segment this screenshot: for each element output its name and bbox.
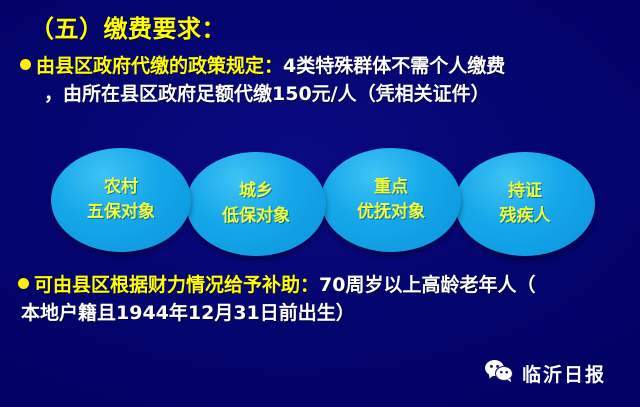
category-oval-4: 持证 残疾人	[455, 152, 595, 256]
bullet-1-line-1: 由县区政府代缴的政策规定：4类特殊群体不需个人缴费	[20, 53, 630, 81]
slide-canvas: （五）缴费要求： 由县区政府代缴的政策规定：4类特殊群体不需个人缴费 ，由所在县…	[0, 0, 640, 407]
bullet-block-1: 由县区政府代缴的政策规定：4类特殊群体不需个人缴费 ，由所在县区政府足额代缴15…	[20, 53, 630, 108]
bullet-1-line-2: ，由所在县区政府足额代缴150元/人（凭相关证件）	[20, 81, 630, 109]
category-oval-1-line-2: 五保对象	[87, 200, 155, 226]
bullet-2-line-2-white: 本地户籍且1944年12月31日前出生）	[21, 302, 355, 324]
bullet-block-2: 可由县区根据财力情况给予补助：70周岁以上高龄老年人（ 本地户籍且1944年12…	[20, 272, 630, 327]
category-oval-2-line-1: 城乡	[239, 179, 273, 205]
category-oval-row: 农村 五保对象 城乡 低保对象 重点 优抚对象 持证 残疾人	[0, 146, 640, 256]
bullet-2-line-1-white: 70周岁以上高龄老年人（	[319, 274, 535, 296]
bullet-1-line-1-white: 4类特殊群体不需个人缴费	[283, 55, 505, 77]
category-oval-1: 农村 五保对象	[51, 148, 191, 252]
watermark: 临沂日报	[484, 359, 606, 387]
bullet-2-line-1: 可由县区根据财力情况给予补助：70周岁以上高龄老年人（	[18, 272, 630, 300]
bullet-2-line-2: 本地户籍且1944年12月31日前出生）	[20, 300, 630, 328]
category-oval-3: 重点 优抚对象	[321, 148, 461, 252]
wechat-icon	[484, 359, 514, 387]
category-oval-2: 城乡 低保对象	[186, 152, 326, 256]
bullet-1-line-1-yellow: 由县区政府代缴的政策规定：	[36, 55, 283, 77]
category-oval-4-line-2: 残疾人	[500, 204, 551, 230]
category-oval-1-line-1: 农村	[104, 175, 138, 201]
category-oval-3-line-2: 优抚对象	[357, 200, 425, 226]
category-oval-4-line-1: 持证	[508, 179, 542, 205]
bullet-dot-icon	[18, 278, 29, 289]
page-title: （五）缴费要求：	[30, 9, 226, 44]
bullet-2-line-1-yellow: 可由县区根据财力情况给予补助：	[34, 274, 319, 296]
bullet-dot-icon	[20, 59, 31, 70]
bullet-1-line-2-white: ，由所在县区政府足额代缴150元/人（凭相关证件）	[44, 83, 490, 105]
watermark-label: 临沂日报	[522, 360, 606, 387]
category-oval-3-line-1: 重点	[374, 175, 408, 201]
category-oval-2-line-2: 低保对象	[222, 204, 290, 230]
